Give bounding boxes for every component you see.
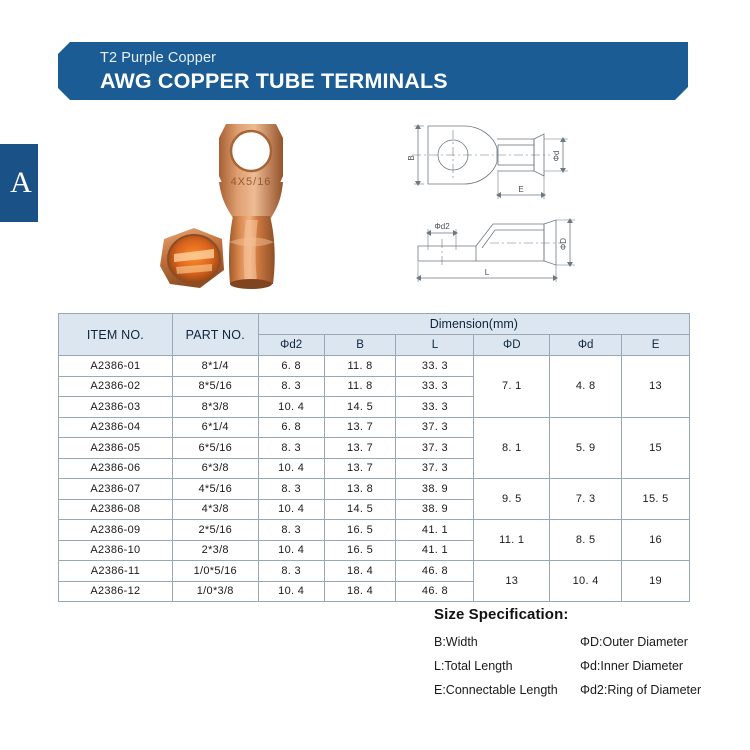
terminal-lug-secondary [160,228,224,288]
header-dimension-group: Dimension(mm) [258,314,689,335]
cell-phi-D: 11. 1 [474,520,550,561]
cell-item-no: A2386-11 [59,561,173,582]
cell-phi-d: 10. 4 [550,561,622,602]
cell-phi-D: 13 [474,561,550,602]
cell-l: 37. 3 [396,417,474,438]
page-title: AWG COPPER TUBE TERMINALS [100,68,688,95]
cell-phi-d2: 8. 3 [258,479,324,500]
header-phi-d: Φd [550,335,622,356]
technical-drawings: B E Φd [398,112,638,287]
label-phi-d2: Φd2 [434,222,450,231]
cell-item-no: A2386-04 [59,417,173,438]
cell-b: 14. 5 [324,397,396,418]
size-specification-legend: Size Specification: B:WidthΦD:Outer Diam… [434,606,734,697]
specification-table: ITEM NO. PART NO. Dimension(mm) Φd2 B L … [58,313,690,602]
cell-part-no: 2*5/16 [172,520,258,541]
cell-item-no: A2386-01 [59,356,173,377]
cell-b: 18. 4 [324,581,396,602]
cell-l: 41. 1 [396,520,474,541]
legend-entry-left: B:Width [434,635,580,649]
cell-part-no: 8*3/8 [172,397,258,418]
cell-part-no: 8*5/16 [172,376,258,397]
cell-phi-d: 8. 5 [550,520,622,561]
cell-phi-d2: 8. 3 [258,438,324,459]
cell-phi-D: 7. 1 [474,356,550,418]
cell-b: 11. 8 [324,376,396,397]
cell-item-no: A2386-12 [59,581,173,602]
cell-l: 46. 8 [396,581,474,602]
cell-e: 13 [622,356,690,418]
cell-phi-d2: 8. 3 [258,376,324,397]
cell-e: 16 [622,520,690,561]
header-e: E [622,335,690,356]
cell-phi-d2: 6. 8 [258,417,324,438]
legend-title: Size Specification: [434,606,734,623]
table-row: A2386-018*1/46. 811. 833. 37. 14. 813 [59,356,690,377]
banner-subtitle: T2 Purple Copper [100,49,688,67]
cell-b: 18. 4 [324,561,396,582]
table-row: A2386-046*1/46. 813. 737. 38. 15. 915 [59,417,690,438]
header-l: L [396,335,474,356]
cell-part-no: 6*1/4 [172,417,258,438]
cell-l: 33. 3 [396,356,474,377]
label-e: E [518,185,523,194]
cell-l: 37. 3 [396,458,474,479]
cell-part-no: 2*3/8 [172,540,258,561]
legend-entry-left: L:Total Length [434,659,580,673]
cell-part-no: 4*5/16 [172,479,258,500]
header-item-no: ITEM NO. [59,314,173,356]
cell-part-no: 4*3/8 [172,499,258,520]
stamp-text: 4X5/16 [231,176,272,188]
terminal-lug: 4X5/16 [219,124,283,289]
table-row: A2386-074*5/168. 313. 838. 99. 57. 315. … [59,479,690,500]
legend-entry-right: Φd:Inner Diameter [580,659,734,673]
cell-item-no: A2386-08 [59,499,173,520]
cell-part-no: 6*3/8 [172,458,258,479]
cell-item-no: A2386-06 [59,458,173,479]
cell-l: 41. 1 [396,540,474,561]
label-phi-d: Φd [552,151,561,162]
cell-item-no: A2386-02 [59,376,173,397]
cell-l: 38. 9 [396,479,474,500]
legend-entry-right: Φd2:Ring of Diameter [580,683,734,697]
cell-item-no: A2386-09 [59,520,173,541]
cell-part-no: 1/0*5/16 [172,561,258,582]
cell-item-no: A2386-03 [59,397,173,418]
cell-e: 19 [622,561,690,602]
cell-phi-d2: 10. 4 [258,458,324,479]
table-header: ITEM NO. PART NO. Dimension(mm) Φd2 B L … [59,314,690,356]
table-body: A2386-018*1/46. 811. 833. 37. 14. 813A23… [59,356,690,602]
cell-b: 16. 5 [324,520,396,541]
cell-item-no: A2386-10 [59,540,173,561]
cell-phi-d: 4. 8 [550,356,622,418]
page-banner: T2 Purple Copper AWG COPPER TUBE TERMINA… [58,42,688,100]
header-phi-d2: Φd2 [258,335,324,356]
cell-item-no: A2386-05 [59,438,173,459]
cell-b: 13. 7 [324,458,396,479]
legend-entries: B:WidthΦD:Outer DiameterL:Total LengthΦd… [434,635,734,697]
cell-phi-d: 7. 3 [550,479,622,520]
cell-l: 33. 3 [396,376,474,397]
cell-phi-d2: 10. 4 [258,540,324,561]
cell-b: 11. 8 [324,356,396,377]
cell-b: 13. 7 [324,417,396,438]
side-tab-marker: A [0,144,38,222]
label-b: B [407,155,416,160]
drawing-top-view: B E Φd [407,124,568,199]
product-photo: 4X5/16 [150,108,360,303]
cell-e: 15 [622,417,690,479]
label-phi-D: ΦD [559,238,568,250]
legend-entry-left: E:Connectable Length [434,683,580,697]
cell-phi-d: 5. 9 [550,417,622,479]
cell-l: 33. 3 [396,397,474,418]
cell-l: 46. 8 [396,561,474,582]
cell-phi-d2: 6. 8 [258,356,324,377]
cell-b: 16. 5 [324,540,396,561]
cell-part-no: 6*5/16 [172,438,258,459]
label-l: L [485,268,490,277]
cell-phi-D: 9. 5 [474,479,550,520]
copper-terminal-illustration: 4X5/16 [150,108,360,303]
drawing-side-view: Φd2 L ΦD [416,218,575,282]
cell-phi-D: 8. 1 [474,417,550,479]
cell-e: 15. 5 [622,479,690,520]
legend-entry-right: ΦD:Outer Diameter [580,635,734,649]
cell-phi-d2: 8. 3 [258,561,324,582]
cell-phi-d2: 10. 4 [258,581,324,602]
cell-part-no: 1/0*3/8 [172,581,258,602]
cell-phi-d2: 8. 3 [258,520,324,541]
cell-b: 13. 7 [324,438,396,459]
header-phi-D: ΦD [474,335,550,356]
header-part-no: PART NO. [172,314,258,356]
cell-phi-d2: 10. 4 [258,499,324,520]
cell-l: 37. 3 [396,438,474,459]
cell-item-no: A2386-07 [59,479,173,500]
cell-b: 13. 8 [324,479,396,500]
table-row: A2386-092*5/168. 316. 541. 111. 18. 516 [59,520,690,541]
cell-part-no: 8*1/4 [172,356,258,377]
side-tab-letter: A [6,168,32,198]
cell-l: 38. 9 [396,499,474,520]
cell-b: 14. 5 [324,499,396,520]
cell-phi-d2: 10. 4 [258,397,324,418]
table-row: A2386-111/0*5/168. 318. 446. 81310. 419 [59,561,690,582]
header-b: B [324,335,396,356]
